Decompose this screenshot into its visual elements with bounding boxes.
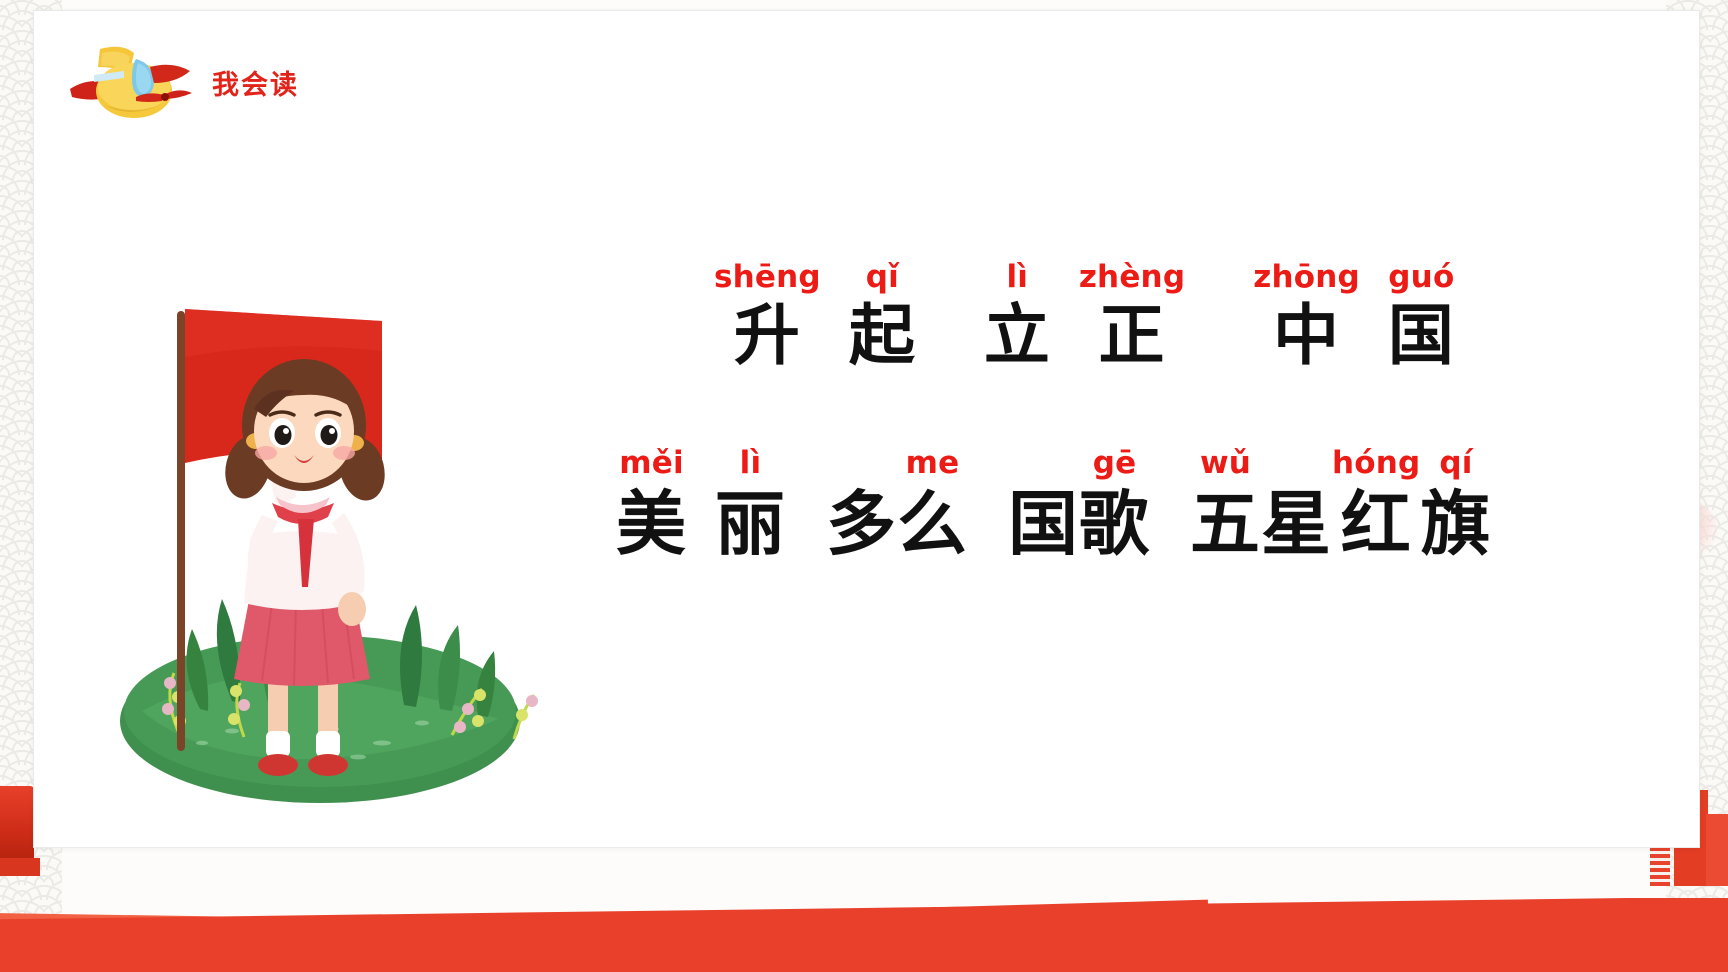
char-qi[interactable]: qǐ 起 [849, 261, 916, 373]
char-sheng[interactable]: shēng 升 [714, 261, 821, 373]
char-mei[interactable]: měi 美 [616, 447, 687, 563]
hanzi-li: 立 [984, 299, 1051, 373]
pinyin-sheng: shēng [714, 261, 821, 299]
pinyin-hong: hóng [1332, 447, 1420, 485]
char-guo[interactable]: guó 国 [1388, 261, 1455, 373]
char-ge[interactable]: gē 歌 [1079, 447, 1150, 563]
hanzi-ge: 歌 [1079, 485, 1150, 563]
word-group-shengqi[interactable]: shēng 升 qǐ 起 [714, 261, 916, 373]
word-group-duome[interactable]: 多 me 么 [826, 447, 968, 563]
char-zheng[interactable]: zhèng 正 [1079, 261, 1185, 373]
pinyin-zhong: zhōng [1253, 261, 1360, 299]
skyline-tower-3 [1706, 814, 1728, 886]
slide-canvas: 我会读 [0, 0, 1728, 972]
pinyin-li2: lì [740, 447, 762, 485]
hanzi-me: 么 [897, 485, 968, 563]
pinyin-qi2: qí [1439, 447, 1472, 485]
word-group-guoge[interactable]: 国 gē 歌 [1008, 447, 1150, 563]
page-title: 我会读 [212, 63, 299, 102]
word-row-2: měi 美 lì 丽 多 me 么 [594, 447, 1654, 563]
pinyin-me: me [906, 447, 960, 485]
char-zhong[interactable]: zhōng 中 [1253, 261, 1360, 373]
char-li[interactable]: lì 立 [984, 261, 1051, 373]
hanzi-zhong: 中 [1273, 299, 1340, 373]
hanzi-li2: 丽 [715, 485, 786, 563]
hanzi-duo: 多 [826, 485, 897, 563]
red-book-decoration [0, 786, 34, 860]
hanzi-guo2: 国 [1008, 485, 1079, 563]
char-duo[interactable]: 多 [826, 447, 897, 563]
pinyin-ge: gē [1093, 447, 1137, 485]
bottom-ribbon [0, 898, 1728, 972]
char-me[interactable]: me 么 [897, 447, 968, 563]
hanzi-hong: 红 [1341, 485, 1412, 563]
illustration-girl-saluting [82, 291, 552, 811]
hanzi-qi2: 旗 [1420, 485, 1491, 563]
word-group-wuxinghongqi[interactable]: wǔ 五 星 hóng 红 qí 旗 [1190, 447, 1491, 563]
hanzi-guo: 国 [1388, 299, 1455, 373]
pinyin-wu: wǔ [1200, 447, 1251, 485]
pinyin-guo: guó [1388, 261, 1454, 299]
hanzi-qi: 起 [849, 299, 916, 373]
char-wu[interactable]: wǔ 五 [1190, 447, 1261, 563]
char-guo2[interactable]: 国 [1008, 447, 1079, 563]
char-li2[interactable]: lì 丽 [715, 447, 786, 563]
word-group-zhongguo[interactable]: zhōng 中 guó 国 [1253, 261, 1455, 373]
pinyin-qi: qǐ [866, 261, 899, 299]
pinyin-zheng: zhèng [1079, 261, 1185, 299]
airplane-icon [64, 37, 196, 127]
page-header: 我会读 [64, 37, 299, 127]
hanzi-mei: 美 [616, 485, 687, 563]
vocabulary-area: shēng 升 qǐ 起 lì 立 zhèng 正 [594, 261, 1654, 637]
pinyin-li: lì [1006, 261, 1028, 299]
hanzi-wu: 五 [1190, 485, 1261, 563]
char-qi2[interactable]: qí 旗 [1420, 447, 1491, 563]
word-group-lizheng[interactable]: lì 立 zhèng 正 [984, 261, 1185, 373]
hanzi-sheng: 升 [734, 299, 801, 373]
char-xing[interactable]: 星 [1261, 447, 1332, 563]
word-row-1: shēng 升 qǐ 起 lì 立 zhèng 正 [594, 261, 1654, 373]
content-card: 我会读 [33, 10, 1700, 848]
hanzi-xing: 星 [1261, 485, 1332, 563]
hanzi-zheng: 正 [1099, 299, 1166, 373]
char-hong[interactable]: hóng 红 [1332, 447, 1420, 563]
word-group-meili[interactable]: měi 美 lì 丽 [616, 447, 786, 563]
pinyin-mei: měi [619, 447, 684, 485]
